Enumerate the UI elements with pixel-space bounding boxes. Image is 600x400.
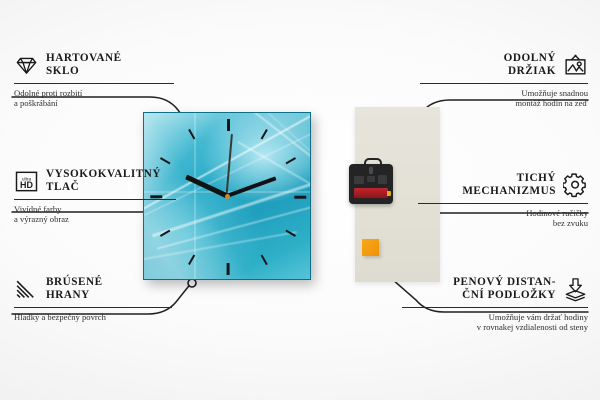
feature-description: Umožňuje snadnou montáž hodin na zeď [420,88,588,109]
divider [418,203,588,204]
badge-main-text: HD [20,180,33,190]
clock-second-hand [226,134,233,196]
divider [14,199,176,200]
feature-title: HARTOVANÉ SKLO [46,52,122,79]
divider [420,83,588,84]
feature-title: PENOVÝ DISTAN- ČNÍ PODLOŽKY [453,276,556,303]
feature-title: TICHÝ MECHANIZMUS [462,172,556,199]
movement-battery [354,188,388,198]
diamond-icon [14,53,39,78]
feature-foam-spacers: PENOVÝ DISTAN- ČNÍ PODLOŽKY Umožňuje vám… [402,276,588,333]
beveled-edge-icon [14,277,39,302]
divider [14,83,174,84]
feature-description: Hodinové ručičky bez zvuku [418,208,588,229]
feature-description: Odolné proti rozbití a poškrábání [14,88,174,109]
clock-minute-hand [226,176,276,198]
feature-silent-mechanism: TICHÝ MECHANIZMUS Hodinové ručičky bez z… [418,172,588,229]
feature-beveled-edges: BRÚSENÉ HRANY Hladký a bezpečný povrch [14,276,172,322]
feature-title: VYSOKOKVALITNÝ TLAČ [46,168,161,195]
feature-title: ODOLNÝ DRŽIAK [504,52,556,79]
feature-tempered-glass: HARTOVANÉ SKLO Odolné proti rozbití a po… [14,52,174,109]
foam-spacer-pad [362,239,379,256]
clock-center-pin [225,194,230,199]
feature-description: Umožňuje vám držať hodiny v rovnakej vzd… [402,312,588,333]
feature-description: Hladký a bezpečný povrch [14,312,172,323]
picture-frame-hanger-icon [563,53,588,78]
feature-high-quality-print: ultra HD VYSOKOKVALITNÝ TLAČ Vivídné far… [14,168,176,225]
ultra-hd-badge-icon: ultra HD [14,169,39,194]
feature-title: BRÚSENÉ HRANY [46,276,103,303]
gear-icon [563,173,588,198]
divider [14,307,172,308]
movement-body [349,164,393,204]
foam-spacer-icon [563,277,588,302]
movement-shaft [369,167,373,174]
feature-durable-hanger: ODOLNÝ DRŽIAK Umožňuje snadnou montáž ho… [420,52,588,109]
feature-description: Vivídné farby a výrazný obraz [14,204,176,225]
quartz-movement [349,164,393,204]
infographic-canvas: HARTOVANÉ SKLO Odolné proti rozbití a po… [0,0,600,400]
divider [402,307,588,308]
product-image [140,104,440,289]
